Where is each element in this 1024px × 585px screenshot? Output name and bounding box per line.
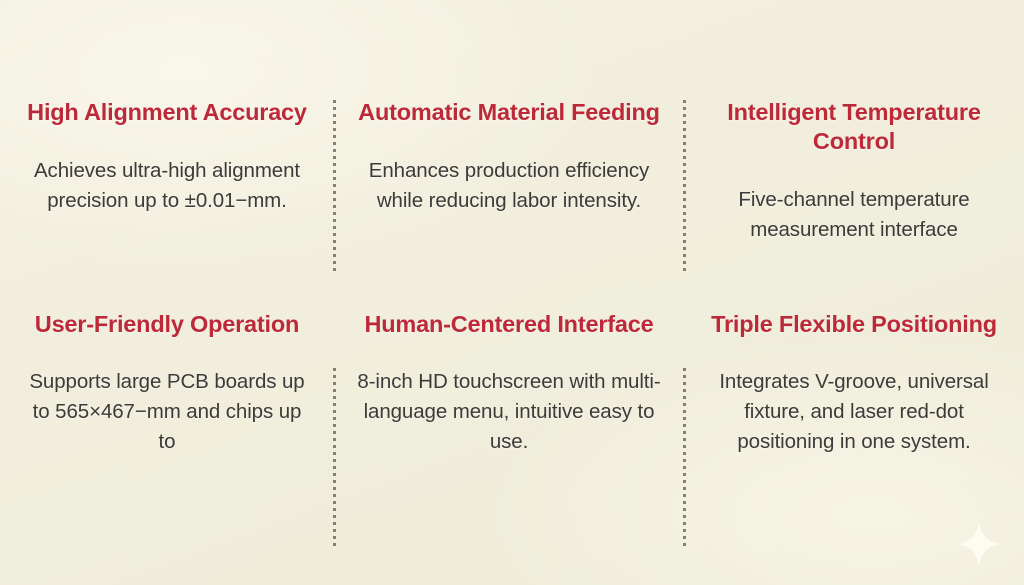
- feature-title: Human-Centered Interface: [364, 310, 653, 339]
- feature-grid: High Alignment Accuracy Achieves ultra-h…: [0, 0, 1024, 585]
- feature-description: Integrates V-groove, universal fixture, …: [706, 367, 1002, 457]
- column-divider-left-top: [333, 100, 336, 273]
- feature-cell-human-centered-interface: Human-Centered Interface 8-inch HD touch…: [334, 292, 684, 585]
- feature-description: 8-inch HD touchscreen with multi-languag…: [356, 367, 662, 457]
- feature-cell-triple-flexible-positioning: Triple Flexible Positioning Integrates V…: [684, 292, 1024, 585]
- feature-slide: High Alignment Accuracy Achieves ultra-h…: [0, 0, 1024, 585]
- column-divider-left-bottom: [333, 368, 336, 546]
- feature-title: Triple Flexible Positioning: [711, 310, 997, 339]
- feature-title: High Alignment Accuracy: [27, 98, 307, 127]
- feature-title: Automatic Material Feeding: [358, 98, 660, 127]
- feature-description: Supports large PCB boards up to 565×467−…: [22, 367, 312, 457]
- column-divider-right-bottom: [683, 368, 686, 546]
- column-divider-right-top: [683, 100, 686, 273]
- feature-cell-automatic-material-feeding: Automatic Material Feeding Enhances prod…: [334, 0, 684, 292]
- feature-description: Enhances production efficiency while red…: [356, 156, 662, 216]
- feature-cell-user-friendly-operation: User-Friendly Operation Supports large P…: [0, 292, 334, 585]
- feature-cell-intelligent-temperature-control: Intelligent Temperature Control Five-cha…: [684, 0, 1024, 292]
- feature-description: Achieves ultra-high alignment precision …: [22, 156, 312, 216]
- feature-cell-high-alignment-accuracy: High Alignment Accuracy Achieves ultra-h…: [0, 0, 334, 292]
- feature-title: User-Friendly Operation: [35, 310, 299, 339]
- feature-title: Intelligent Temperature Control: [706, 98, 1002, 156]
- feature-description: Five-channel temperature measurement int…: [706, 185, 1002, 245]
